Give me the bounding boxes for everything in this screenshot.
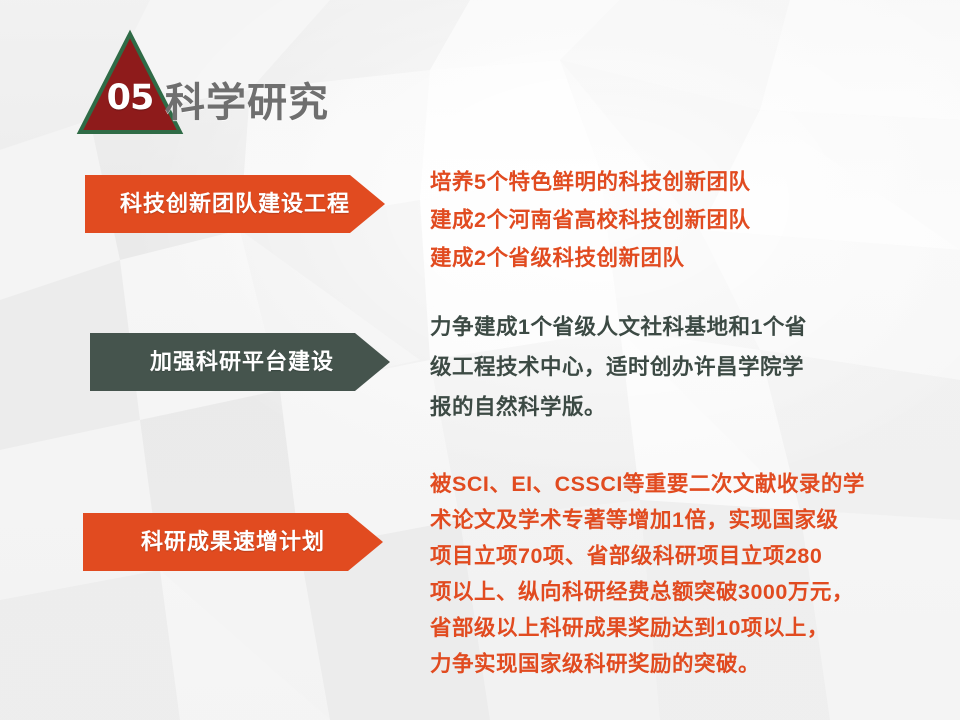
section-banner-1[interactable]: 科技创新团队建设工程 xyxy=(85,175,385,233)
text-line: 力争实现国家级科研奖励的突破。 xyxy=(430,646,930,682)
text-line: 省部级以上科研成果奖励达到10项以上， xyxy=(430,610,930,646)
text-line: 项目立项70项、省部级科研项目立项280 xyxy=(430,538,930,574)
section-text-1: 培养5个特色鲜明的科技创新团队 建成2个河南省高校科技创新团队 建成2个省级科技… xyxy=(430,163,930,277)
text-line: 建成2个省级科技创新团队 xyxy=(430,239,930,277)
section-banner-3[interactable]: 科研成果速增计划 xyxy=(83,513,383,571)
section-banner-1-label: 科技创新团队建设工程 xyxy=(97,175,373,233)
section-banner-2[interactable]: 加强科研平台建设 xyxy=(90,333,390,391)
text-line: 项以上、纵向科研经费总额突破3000万元， xyxy=(430,574,930,610)
text-line: 术论文及学术专著等增加1倍，实现国家级 xyxy=(430,502,930,538)
text-line: 培养5个特色鲜明的科技创新团队 xyxy=(430,163,930,201)
slide-header: 05 科学研究 xyxy=(60,22,560,132)
text-line: 力争建成1个省级人文社科基地和1个省 xyxy=(430,307,930,347)
text-line: 被SCI、EI、CSSCI等重要二次文献收录的学 xyxy=(430,466,930,502)
page-title: 科学研究 xyxy=(165,70,329,128)
text-line: 级工程技术中心，适时创办许昌学院学 xyxy=(430,347,930,387)
section-banner-2-label: 加强科研平台建设 xyxy=(104,333,380,391)
slide-canvas: 05 科学研究 科技创新团队建设工程 培养5个特色鲜明的科技创新团队 建成2个河… xyxy=(0,0,960,720)
section-text-3: 被SCI、EI、CSSCI等重要二次文献收录的学 术论文及学术专著等增加1倍，实… xyxy=(430,466,930,682)
section-banner-3-label: 科研成果速增计划 xyxy=(95,513,371,571)
text-line: 建成2个河南省高校科技创新团队 xyxy=(430,201,930,239)
text-line: 报的自然科学版。 xyxy=(430,387,930,427)
section-text-2: 力争建成1个省级人文社科基地和1个省 级工程技术中心，适时创办许昌学院学 报的自… xyxy=(430,307,930,427)
